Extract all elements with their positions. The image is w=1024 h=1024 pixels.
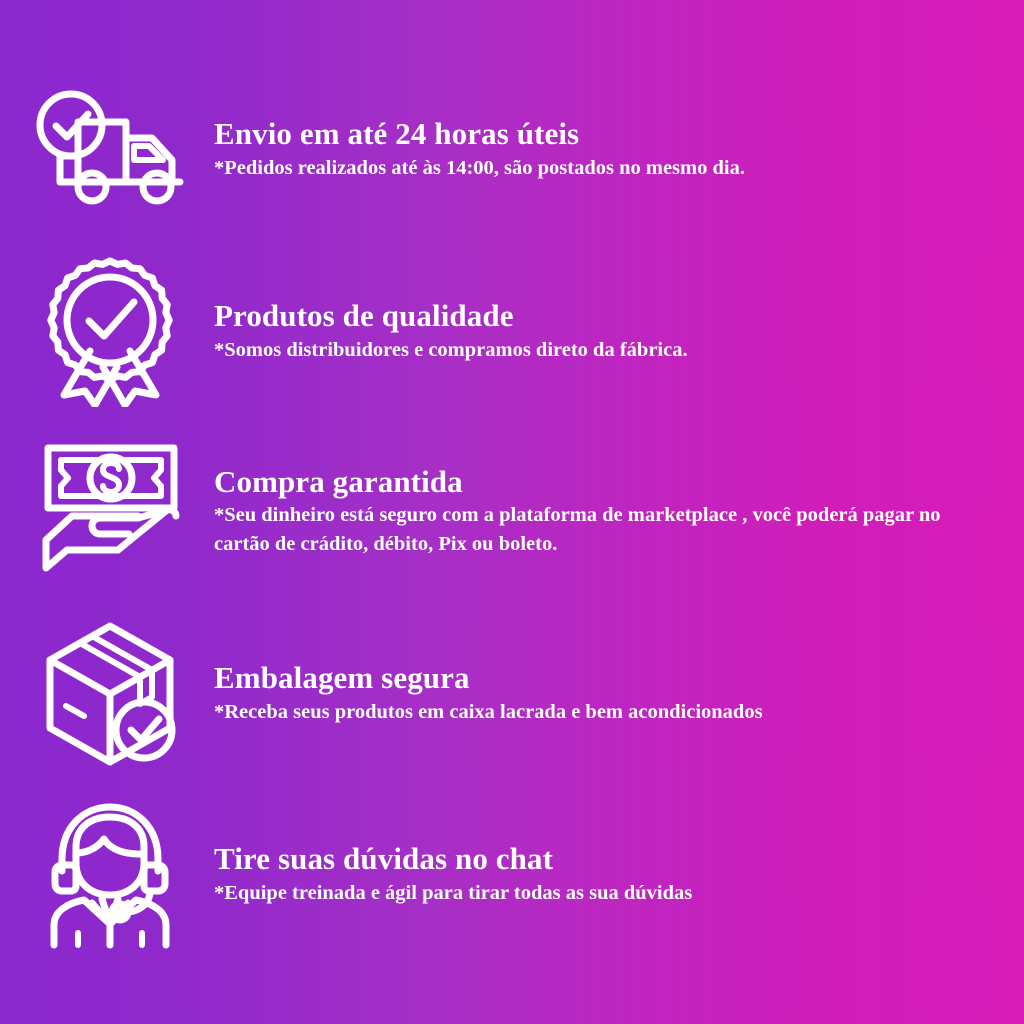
support-agent-headset-icon bbox=[24, 799, 196, 949]
feature-title: Compra garantida bbox=[214, 464, 984, 499]
feature-title: Embalagem segura bbox=[214, 660, 984, 695]
feature-item-quality: Produtos de qualidade *Somos distribuido… bbox=[24, 242, 984, 420]
feature-title: Produtos de qualidade bbox=[214, 298, 984, 333]
feature-title: Tire suas dúvidas no chat bbox=[214, 841, 984, 876]
feature-item-shipping: Envio em até 24 horas úteis *Pedidos rea… bbox=[24, 56, 984, 242]
feature-text-packaging: Embalagem segura *Receba seus produtos e… bbox=[196, 660, 984, 726]
feature-title: Envio em até 24 horas úteis bbox=[214, 116, 984, 151]
feature-description: *Pedidos realizados até às 14:00, são po… bbox=[214, 154, 984, 182]
package-box-check-icon bbox=[24, 620, 196, 766]
feature-text-guaranteed-purchase: Compra garantida *Seu dinheiro está segu… bbox=[196, 464, 984, 558]
feature-description: *Somos distribuidores e compramos direto… bbox=[214, 336, 984, 364]
feature-text-chat-support: Tire suas dúvidas no chat *Equipe treina… bbox=[196, 841, 984, 907]
feature-item-chat-support: Tire suas dúvidas no chat *Equipe treina… bbox=[24, 784, 984, 964]
delivery-truck-clock-check-icon bbox=[24, 90, 196, 208]
feature-item-guaranteed-purchase: Compra garantida *Seu dinheiro está segu… bbox=[24, 420, 984, 602]
quality-badge-ribbon-check-icon bbox=[24, 255, 196, 407]
benefits-banner: Envio em até 24 horas úteis *Pedidos rea… bbox=[0, 0, 1024, 1024]
features-list: Envio em até 24 horas úteis *Pedidos rea… bbox=[0, 0, 1024, 1024]
feature-description: *Equipe treinada e ágil para tirar todas… bbox=[214, 879, 984, 907]
feature-description: *Receba seus produtos em caixa lacrada e… bbox=[214, 698, 984, 726]
feature-item-packaging: Embalagem segura *Receba seus produtos e… bbox=[24, 602, 984, 784]
feature-text-quality: Produtos de qualidade *Somos distribuido… bbox=[196, 298, 984, 364]
feature-description: *Seu dinheiro está seguro com a platafor… bbox=[214, 501, 984, 558]
feature-text-shipping: Envio em até 24 horas úteis *Pedidos rea… bbox=[196, 116, 984, 182]
hand-holding-money-dollar-icon bbox=[24, 440, 196, 582]
